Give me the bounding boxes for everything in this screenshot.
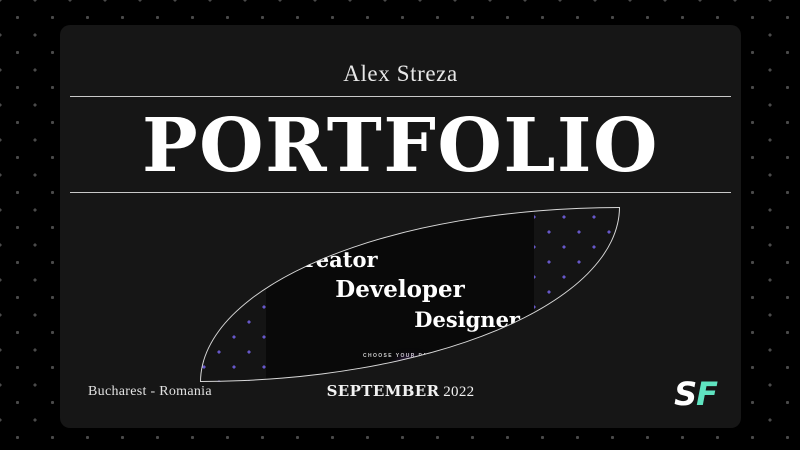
preview-brand-label: Streza <box>200 209 620 216</box>
preview-cta-button[interactable] <box>403 363 418 382</box>
role-developer: Developer <box>266 275 534 305</box>
preview-roles: Creator Developer Designer <box>266 245 534 335</box>
portfolio-card: Alex Streza PORTFOLIO Streza Creator Dev… <box>60 25 741 428</box>
logo-letter-s: S <box>674 375 696 413</box>
logo-letter-f: F <box>696 375 717 413</box>
sf-logo: SF <box>674 378 717 410</box>
preview-cta-label: CHOOSE YOUR PATH <box>266 353 534 359</box>
preview-clip: Streza Creator Developer Designer CHOOSE… <box>200 207 620 382</box>
project-preview[interactable]: Streza Creator Developer Designer CHOOSE… <box>200 207 620 382</box>
date-month: SEPTEMBER <box>327 382 440 400</box>
role-creator: Creator <box>266 245 534 275</box>
date-label: SEPTEMBER 2022 <box>60 382 741 401</box>
author-name: Alex Streza <box>60 61 741 87</box>
divider-top <box>70 96 731 97</box>
role-designer: Designer <box>266 305 534 335</box>
date-year: 2022 <box>443 384 474 400</box>
page-title: PORTFOLIO <box>60 109 741 183</box>
divider-bottom <box>70 192 731 193</box>
